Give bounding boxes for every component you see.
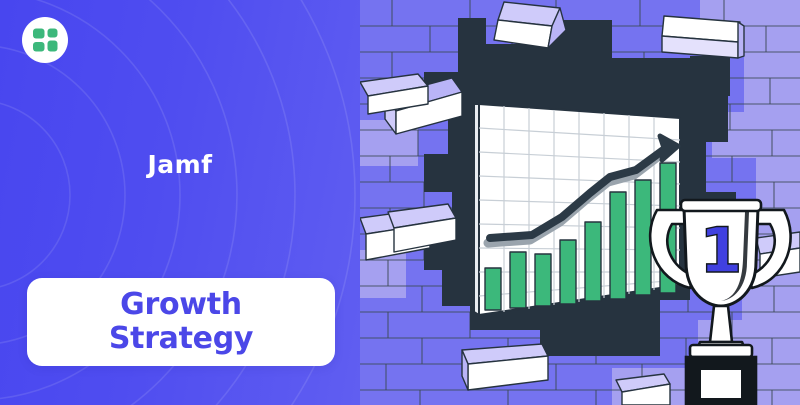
promo-banner: 1 Jamf [0, 0, 800, 405]
brand-name: Jamf [0, 150, 360, 179]
trophy-number: 1 [699, 214, 742, 287]
brand-logo[interactable] [22, 17, 68, 63]
title-line-1: Growth [120, 288, 242, 322]
trophy-plate [700, 369, 742, 399]
flying-brick [616, 374, 670, 405]
title-line-2: Strategy [109, 322, 253, 356]
growth-bar-chart [474, 104, 680, 315]
four-squares-grid-icon [22, 17, 68, 63]
flying-brick [662, 16, 744, 58]
left-content-panel: Jamf Growth Strategy [0, 0, 370, 405]
title-card: Growth Strategy [27, 278, 335, 366]
flying-brick [494, 2, 566, 48]
